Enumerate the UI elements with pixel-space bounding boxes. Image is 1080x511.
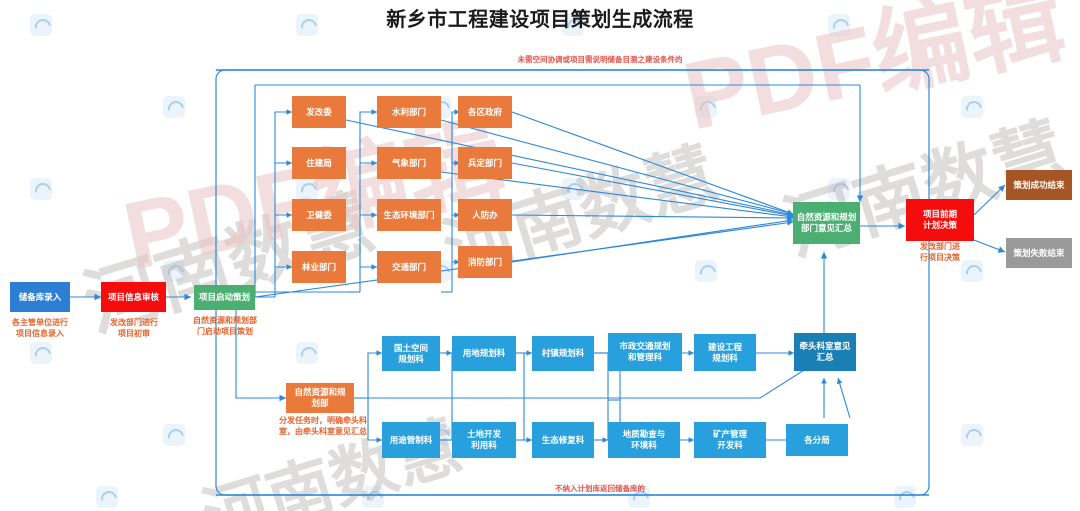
dept-node-shengtai-huanjing[interactable]: 生态环境部门 — [377, 199, 441, 231]
dept-node-shuili[interactable]: 水利部门 — [377, 96, 441, 128]
caption-start-planning: 自然资源和规划部 门启动项目策划 — [178, 315, 272, 337]
note-bottom: 不纳入计划库返回储备库的 — [460, 484, 740, 494]
caption-intake: 各主管单位进行 项目信息录入 — [0, 317, 80, 339]
node-decision[interactable]: 项目前期 计划决策 — [906, 199, 974, 241]
flowchart-canvas: 河南数慧 河南数慧 河南数慧 河南数慧 PDF编辑 PDF编辑 新乡市工程建设项… — [0, 0, 1080, 511]
caption-review: 发改部门进行 项目初审 — [93, 317, 175, 339]
caption-bureau-root: 分发任务时，明确牵头科 室，由牵头科室意见汇总 — [258, 415, 388, 437]
node-start-planning[interactable]: 项目启动策划 — [194, 285, 255, 310]
section-node-yongtu-guanzhi[interactable]: 用途管制科 — [382, 422, 440, 458]
node-bureau-root[interactable]: 自然资源和规 划部 — [286, 383, 354, 413]
section-node-shengtai-xiufu[interactable]: 生态修复科 — [532, 422, 594, 458]
note-top: 未需空间协调或项目需说明储备目测之建设条件的 — [440, 55, 760, 65]
node-opinion-collection[interactable]: 自然资源和规划 部门意见汇总 — [793, 202, 860, 244]
dept-node-fagaiwei[interactable]: 发改委 — [292, 96, 346, 128]
section-node-guotu-kongjian[interactable]: 国土空间 规划科 — [382, 336, 440, 371]
node-review[interactable]: 项目信息审核 — [101, 282, 166, 312]
section-node-cunzhen-guihua[interactable]: 村镇规划科 — [532, 336, 594, 371]
dept-node-zhujianju[interactable]: 住建局 — [292, 147, 346, 179]
dept-node-qixiang[interactable]: 气象部门 — [377, 147, 441, 179]
dept-node-linye[interactable]: 林业部门 — [292, 251, 346, 283]
node-failure[interactable]: 策划失败结束 — [1006, 238, 1072, 268]
caption-decision: 发改部门进 行项目决策 — [900, 241, 980, 263]
section-node-jianshe-gongcheng[interactable]: 建设工程 规划科 — [694, 334, 756, 371]
dept-node-weijianwei[interactable]: 卫健委 — [292, 199, 346, 231]
node-success[interactable]: 策划成功结束 — [1006, 170, 1072, 200]
section-node-yongdi-guihua[interactable]: 用地规划科 — [452, 336, 516, 371]
section-node-shizheng-jiaotong[interactable]: 市政交通规划 和管理科 — [608, 333, 682, 371]
dept-node-quzhengfu[interactable]: 各区政府 — [458, 96, 512, 128]
dept-node-bingding[interactable]: 兵定部门 — [458, 147, 512, 179]
dept-node-renfangban[interactable]: 人防办 — [458, 199, 512, 231]
section-node-gefenju[interactable]: 各分局 — [786, 424, 848, 456]
node-intake[interactable]: 储备库录入 — [10, 282, 70, 312]
dept-node-jiaotong[interactable]: 交通部门 — [377, 251, 441, 283]
section-node-kuangchan-guanli[interactable]: 矿产管理 开发科 — [694, 422, 766, 458]
dept-node-xiaofang[interactable]: 消防部门 — [458, 246, 512, 278]
section-node-dizhi-kancha[interactable]: 地质勘查与 环境科 — [608, 422, 680, 458]
section-node-tudi-kaifa[interactable]: 土地开发 利用科 — [452, 422, 516, 458]
node-lead-section-summary[interactable]: 牵头科室意见 汇总 — [794, 333, 856, 371]
